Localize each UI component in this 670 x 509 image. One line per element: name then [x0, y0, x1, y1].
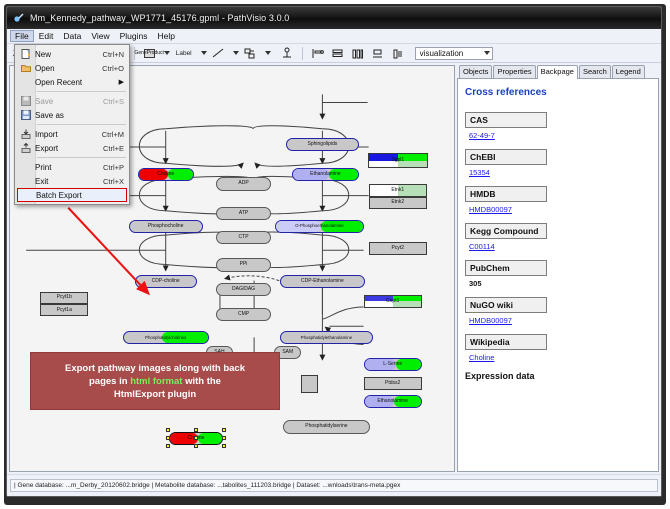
pathway-node-ptdss2[interactable]: Ptdss2 — [364, 377, 422, 390]
xref-header-nugo-wiki: NuGO wiki — [465, 297, 547, 313]
status-text: | Gene database: ...m_Derby_20120602.bri… — [10, 479, 658, 492]
pathway-node-choline-top[interactable]: Choline — [138, 168, 194, 181]
receptor-dropdown[interactable] — [262, 46, 271, 60]
file-menu-item-label: Batch Export — [36, 191, 121, 200]
callout-line1: Export pathway images along with back — [65, 363, 245, 374]
selection-handle[interactable] — [194, 444, 198, 448]
pathvisio-window: Mm_Kennedy_pathway_WP1771_45176.gpml - P… — [6, 6, 662, 497]
order-button[interactable] — [389, 45, 406, 61]
new-file-icon — [17, 49, 35, 59]
file-menu-item-label: New — [35, 50, 103, 59]
selection-handle[interactable] — [194, 436, 198, 440]
align-columns-button[interactable] — [349, 45, 366, 61]
receptor-icon — [244, 48, 256, 59]
pathvisio-icon — [13, 12, 25, 24]
file-menu-item-accelerator: Ctrl+O — [102, 64, 129, 73]
pathway-node-cdp-choline[interactable]: CDP-choline — [135, 275, 197, 288]
callout-line2-b: with the — [182, 376, 221, 387]
cross-references-title: Cross references — [465, 87, 651, 98]
pathway-node-phosphatidylcholines[interactable]: Phosphatidylcholines — [123, 331, 209, 344]
pathway-node-l-serine[interactable]: L-Serine — [364, 358, 422, 371]
pathway-node-etnk2[interactable]: Etnk2 — [369, 197, 427, 209]
menu-file[interactable]: File — [10, 30, 34, 42]
pathway-node-pcyt1a[interactable]: Pcyt1a — [40, 304, 88, 316]
pathway-node-label: CTP — [239, 235, 249, 240]
selection-handle[interactable] — [222, 436, 226, 440]
pathway-node-phosphocholine[interactable]: Phosphocholine — [129, 220, 203, 233]
align-columns-icon — [351, 48, 364, 59]
pathway-node-label: Pcyt1b — [57, 295, 72, 300]
pathway-node-dag-diag[interactable]: DAG/DAG — [216, 283, 271, 296]
xref-header-hmdb: HMDB — [465, 186, 547, 202]
label-dropdown[interactable] — [198, 46, 207, 60]
menu-help[interactable]: Help — [153, 30, 180, 42]
callout-line3: HtmlExport plugin — [114, 389, 196, 400]
annotation-callout: Export pathway images along with back pa… — [30, 352, 280, 410]
callout-line2-a: pages in — [89, 376, 130, 387]
backpage-content: Cross references CAS 62-49-7 ChEBI 15354… — [457, 79, 659, 472]
pathway-node-cept1[interactable]: Cept1 — [364, 295, 422, 308]
pathway-node-label: Pcyt2 — [391, 246, 404, 251]
menu-separator — [37, 91, 126, 92]
file-menu-item-save: SaveCtrl+S — [15, 94, 129, 108]
window-titlebar: Mm_Kennedy_pathway_WP1771_45176.gpml - P… — [7, 7, 661, 29]
pathway-node-ethanolamine-low[interactable]: Ethanolamine — [364, 395, 422, 408]
xref-header-wikipedia: Wikipedia — [465, 334, 547, 350]
chevron-down-icon — [201, 51, 207, 55]
file-menu-item-open-recent[interactable]: Open Recent▶ — [15, 75, 129, 89]
pathway-node-label: Phosphatidylserine — [305, 424, 347, 429]
pathway-node-label: CMP — [238, 312, 249, 317]
selection-handle[interactable] — [166, 436, 170, 440]
chevron-down-icon — [164, 51, 170, 55]
file-menu-item-label: Save — [35, 97, 103, 106]
xref-value-cas[interactable]: 62-49-7 — [469, 131, 651, 140]
pathway-node-label: Etnk2 — [391, 200, 404, 205]
pathway-node-label: CDP-choline — [152, 279, 180, 284]
selection-handle[interactable] — [166, 428, 170, 432]
selection-handle[interactable] — [222, 444, 226, 448]
save-icon — [17, 96, 35, 106]
pathway-node-label: Pcyt1a — [57, 308, 72, 313]
pathway-node-ppi[interactable]: PPi — [216, 258, 271, 271]
file-menu-item-label: Save as — [35, 111, 124, 120]
import-icon — [17, 129, 35, 139]
pathway-node-label: Phosphatidylethanolamine — [301, 336, 353, 340]
file-menu-item-batch-export[interactable]: Batch Export — [17, 188, 127, 202]
pathway-node-ethanolamine-top[interactable]: Ethanolamine — [292, 168, 358, 181]
pathway-node-ptdss1-box[interactable] — [301, 375, 318, 393]
pathway-node-label: O-Phosphoethanolamine — [295, 224, 344, 228]
file-menu-item-exit[interactable]: ExitCtrl+X — [15, 174, 129, 188]
file-menu-item-label: Import — [35, 130, 102, 139]
selection-handle[interactable] — [166, 444, 170, 448]
order-icon — [391, 48, 404, 59]
file-menu-item-open[interactable]: OpenCtrl+O — [15, 61, 129, 75]
file-menu-item-label: Open Recent — [35, 78, 119, 87]
align-left-button[interactable] — [309, 45, 326, 61]
tab-legend[interactable]: Legend — [612, 65, 645, 78]
file-menu-item-label: Print — [35, 163, 103, 172]
tab-properties[interactable]: Properties — [493, 65, 535, 78]
save-as-icon — [17, 110, 35, 120]
xref-value-nugo-wiki[interactable]: HMDB00097 — [469, 316, 651, 325]
pathway-node-sphingolipids[interactable]: Sphingolipids — [286, 138, 358, 151]
line-icon — [212, 48, 224, 58]
menu-separator — [37, 157, 126, 158]
label-icon: Label — [176, 50, 192, 57]
pathway-node-label: DAG/DAG — [232, 287, 255, 292]
pathway-node-etnk1[interactable]: Etnk1 — [369, 184, 427, 196]
callout-line2-highlight: html format — [130, 376, 182, 387]
pathway-node-label: Sphingolipids — [308, 142, 338, 147]
file-menu-item-accelerator: Ctrl+X — [103, 177, 129, 186]
file-dropdown-menu[interactable]: NewCtrl+NOpenCtrl+OOpen Recent▶SaveCtrl+… — [14, 44, 130, 205]
datanode-tool-button[interactable]: GeneProduct — [141, 45, 158, 61]
toolbar-separator — [302, 47, 303, 60]
menu-view[interactable]: View — [86, 30, 114, 42]
export-icon — [17, 143, 35, 153]
pathway-node-label: Sgpl1 — [391, 158, 404, 163]
side-panel: Objects Properties Backpage Search Legen… — [457, 65, 659, 472]
datanode-dropdown[interactable] — [161, 46, 170, 60]
visualization-value: visualization — [420, 49, 464, 58]
anchor-icon — [281, 47, 293, 59]
menu-data[interactable]: Data — [58, 30, 86, 42]
receptor-tool-button[interactable] — [242, 45, 259, 61]
file-menu-item-label: Export — [35, 144, 103, 153]
file-menu-item-label: Open — [35, 64, 102, 73]
file-menu-item-save-as[interactable]: Save as — [15, 108, 129, 122]
xref-header-cas: CAS — [465, 112, 547, 128]
side-panel-tabs: Objects Properties Backpage Search Legen… — [457, 65, 659, 79]
align-left-icon — [311, 48, 324, 59]
line-dropdown[interactable] — [230, 46, 239, 60]
status-bar: | Gene database: ...m_Derby_20120602.bri… — [7, 474, 661, 496]
tab-objects[interactable]: Objects — [459, 65, 492, 78]
chevron-right-icon: ▶ — [119, 78, 129, 86]
pathway-node-phosphatidylserine[interactable]: Phosphatidylserine — [283, 420, 369, 433]
label-tool-button[interactable]: Label — [173, 45, 195, 61]
pathway-node-label: Phosphocholine — [148, 224, 184, 229]
pathway-node-cmp[interactable]: CMP — [216, 308, 271, 321]
file-menu-item-accelerator: Ctrl+M — [102, 130, 129, 139]
screenshot-root: Mm_Kennedy_pathway_WP1771_45176.gpml - P… — [0, 0, 670, 509]
file-menu-item-accelerator: Ctrl+N — [103, 50, 129, 59]
pathway-node-label: CDP-Ethanolamine — [301, 279, 344, 284]
xref-value-pubchem: 305 — [469, 279, 651, 288]
pathway-node-ctp[interactable]: CTP — [216, 231, 271, 244]
window-title: Mm_Kennedy_pathway_WP1771_45176.gpml - P… — [30, 13, 289, 23]
pathway-node-sgpl1[interactable]: Sgpl1 — [368, 153, 428, 168]
pathway-node-adp[interactable]: ADP — [216, 177, 271, 190]
pathway-node-label: ADP — [238, 181, 248, 186]
file-menu-item-print[interactable]: PrintCtrl+P — [15, 160, 129, 174]
file-menu-item-accelerator: Ctrl+P — [103, 163, 129, 172]
pathway-node-label: Phosphatidylcholines — [145, 336, 186, 340]
visualization-combobox[interactable]: visualization — [415, 47, 493, 60]
pathway-node-phosphatidylethanolamine[interactable]: Phosphatidylethanolamine — [280, 331, 372, 344]
pathway-node-label: ATP — [239, 211, 248, 216]
pathway-node-label: Cept1 — [386, 299, 399, 304]
selection-handle[interactable] — [194, 428, 198, 432]
pathway-node-label: PPi — [240, 262, 248, 267]
xref-header-kegg-compound: Kegg Compound — [465, 223, 547, 239]
pathway-node-label: Ethanolamine — [377, 399, 408, 404]
xref-header-chebi: ChEBI — [465, 149, 547, 165]
pathway-node-label: Ptdss2 — [385, 381, 400, 386]
gene-product-icon: GeneProduct — [144, 49, 155, 58]
menu-separator — [37, 124, 126, 125]
pathway-node-label: Choline — [157, 172, 174, 177]
menu-plugins[interactable]: Plugins — [115, 30, 153, 42]
tab-backpage[interactable]: Backpage — [537, 65, 578, 79]
pathway-node-label: Ethanolamine — [310, 172, 341, 177]
file-menu-item-new[interactable]: NewCtrl+N — [15, 47, 129, 61]
pathway-node-o-phosphoethanolamine[interactable]: O-Phosphoethanolamine — [275, 220, 363, 233]
file-menu-item-import[interactable]: ImportCtrl+M — [15, 127, 129, 141]
chevron-down-icon — [484, 51, 490, 55]
pathway-node-pcyt2[interactable]: Pcyt2 — [369, 242, 427, 255]
pathway-node-atp[interactable]: ATP — [216, 207, 271, 220]
pathway-node-cdp-ethanolamine[interactable]: CDP-Ethanolamine — [280, 275, 364, 288]
xref-header-pubchem: PubChem — [465, 260, 547, 276]
chevron-down-icon — [265, 51, 271, 55]
selection-handle[interactable] — [222, 428, 226, 432]
file-menu-item-accelerator: Ctrl+S — [103, 97, 129, 106]
pathway-node-pcyt1b[interactable]: Pcyt1b — [40, 292, 88, 304]
group-button[interactable] — [369, 45, 386, 61]
pathway-node-label: L-Serine — [383, 362, 402, 367]
tab-search[interactable]: Search — [579, 65, 611, 78]
xref-value-hmdb[interactable]: HMDB00097 — [469, 205, 651, 214]
file-menu-item-label: Exit — [35, 177, 103, 186]
line-tool-button[interactable] — [210, 45, 227, 61]
xref-value-wikipedia[interactable]: Choline — [469, 353, 651, 362]
file-menu-item-export[interactable]: ExportCtrl+E — [15, 141, 129, 155]
anchor-tool-button[interactable] — [279, 45, 296, 61]
menu-bar: File Edit Data View Plugins Help — [7, 29, 661, 44]
pathway-node-label: Etnk1 — [391, 188, 404, 193]
pathway-node-label: SAM — [282, 350, 293, 355]
expression-data-title: Expression data — [465, 371, 651, 381]
xref-value-chebi[interactable]: 15354 — [469, 168, 651, 177]
align-stack-icon — [331, 48, 344, 59]
xref-value-kegg-compound[interactable]: C00114 — [469, 242, 651, 251]
chevron-down-icon — [233, 51, 239, 55]
align-stack-button[interactable] — [329, 45, 346, 61]
folder-open-icon — [17, 64, 35, 73]
menu-edit[interactable]: Edit — [34, 30, 59, 42]
file-menu-item-accelerator: Ctrl+E — [103, 144, 129, 153]
group-icon — [371, 48, 384, 59]
